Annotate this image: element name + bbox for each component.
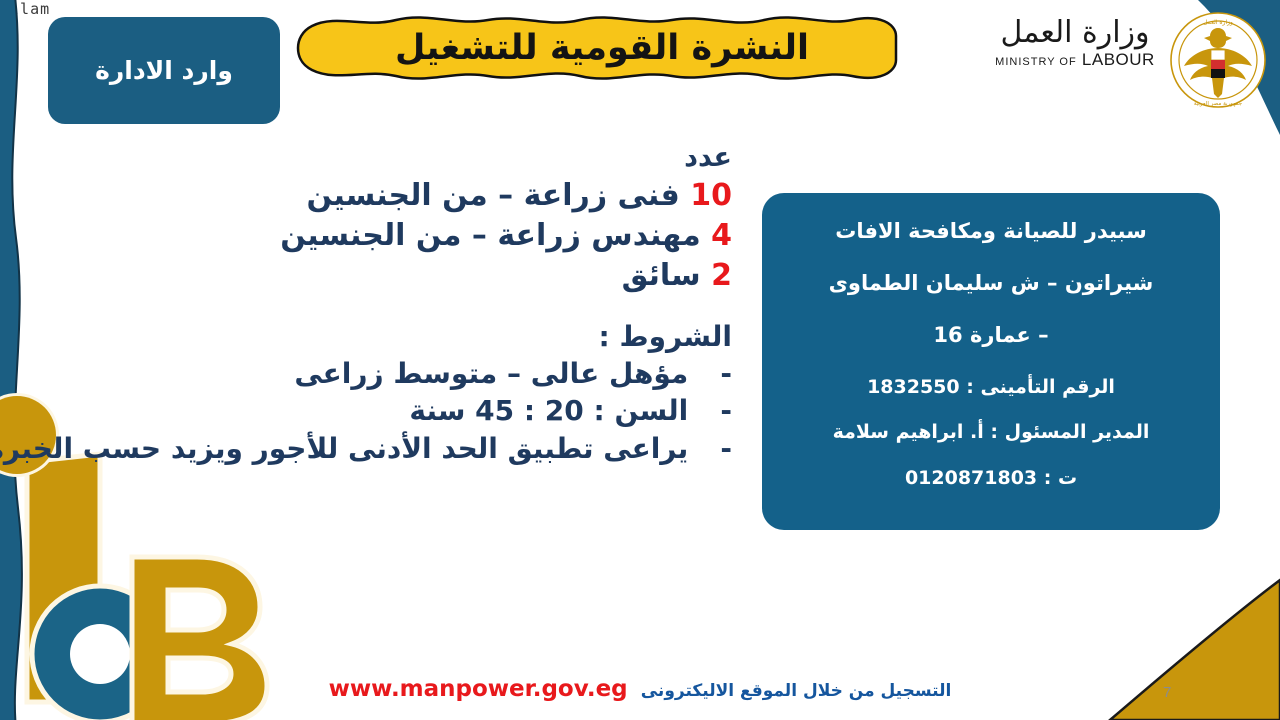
department-tab: وارد الادارة <box>48 17 280 124</box>
vacancy-title: فنى زراعة – من الجنسين <box>307 178 680 213</box>
employer-manager: المدير المسئول : أ. ابراهيم سلامة <box>780 421 1202 444</box>
vacancy-title: سائق <box>622 258 701 293</box>
vacancy-row: 4 مهندس زراعة – من الجنسين <box>32 216 732 256</box>
employer-address-line1: شيراتون – ش سليمان الطماوى <box>780 271 1202 296</box>
vacancies-list: عدد 10 فنى زراعة – من الجنسين 4 مهندس زر… <box>32 140 732 296</box>
ministry-logo: وزارة العمل MINISTRY OF LABOUR <box>986 18 1164 98</box>
conditions-header: الشروط : <box>0 318 732 355</box>
vacancy-row: 10 فنى زراعة – من الجنسين <box>32 176 732 216</box>
title-banner: النشرة القومية للتشغيل <box>296 12 908 84</box>
vacancy-count: 2 <box>711 258 732 293</box>
vacancy-count: 10 <box>690 178 732 213</box>
slide-canvas: Allam وارد الادارة النشرة القومية للتشغي… <box>0 0 1280 720</box>
vacancy-title: مهندس زراعة – من الجنسين <box>280 218 700 253</box>
page-number: 7 <box>1163 684 1171 701</box>
footer-note: التسجيل من خلال الموقع الاليكترونى <box>641 681 952 701</box>
vacancy-row: 2 سائق <box>32 256 732 296</box>
bullet-dash-icon: - <box>698 430 732 467</box>
conditions-list: الشروط : - مؤهل عالى – متوسط زراعى - الس… <box>0 318 732 467</box>
condition-item: - السن : 20 : 45 سنة <box>0 392 732 429</box>
vacancies-count-header: عدد <box>32 140 732 176</box>
footer: التسجيل من خلال الموقع الاليكترونى www.m… <box>0 676 1280 702</box>
ministry-logo-english: MINISTRY OF LABOUR <box>986 50 1164 70</box>
employer-phone: ت : 0120871803 <box>780 467 1202 490</box>
condition-item: - مؤهل عالى – متوسط زراعى <box>0 355 732 392</box>
condition-text: مؤهل عالى – متوسط زراعى <box>294 357 688 390</box>
svg-text:جمهورية مصر العربية: جمهورية مصر العربية <box>1194 101 1242 107</box>
department-tab-label: وارد الادارة <box>95 56 233 85</box>
bullet-dash-icon: - <box>698 355 732 392</box>
ministry-logo-english-large: LABOUR <box>1082 50 1155 69</box>
egypt-eagle-emblem-icon: وزارة العمل جمهورية مصر العربية <box>1168 8 1268 112</box>
condition-item: - يراعى تطبيق الحد الأدنى للأجور ويزيد ح… <box>0 430 732 467</box>
ministry-logo-arabic: وزارة العمل <box>986 18 1164 48</box>
svg-text:وزارة العمل: وزارة العمل <box>1203 19 1233 26</box>
employer-company-name: سبيدر للصيانة ومكافحة الافات <box>780 219 1202 244</box>
employer-address-line2: – عمارة 16 <box>780 323 1202 348</box>
bullet-dash-icon: - <box>698 392 732 429</box>
condition-text: السن : 20 : 45 سنة <box>409 394 688 427</box>
employer-info-card: سبيدر للصيانة ومكافحة الافات شيراتون – ش… <box>762 193 1220 530</box>
ministry-logo-english-small: MINISTRY OF <box>995 56 1077 68</box>
condition-text: يراعى تطبيق الحد الأدنى للأجور ويزيد حسب… <box>0 432 688 465</box>
employer-insurance-number: الرقم التأمينى : 1832550 <box>780 376 1202 399</box>
vacancy-count: 4 <box>711 218 732 253</box>
footer-website-url[interactable]: www.manpower.gov.eg <box>329 676 628 702</box>
slide-title: النشرة القومية للتشغيل <box>296 12 908 84</box>
